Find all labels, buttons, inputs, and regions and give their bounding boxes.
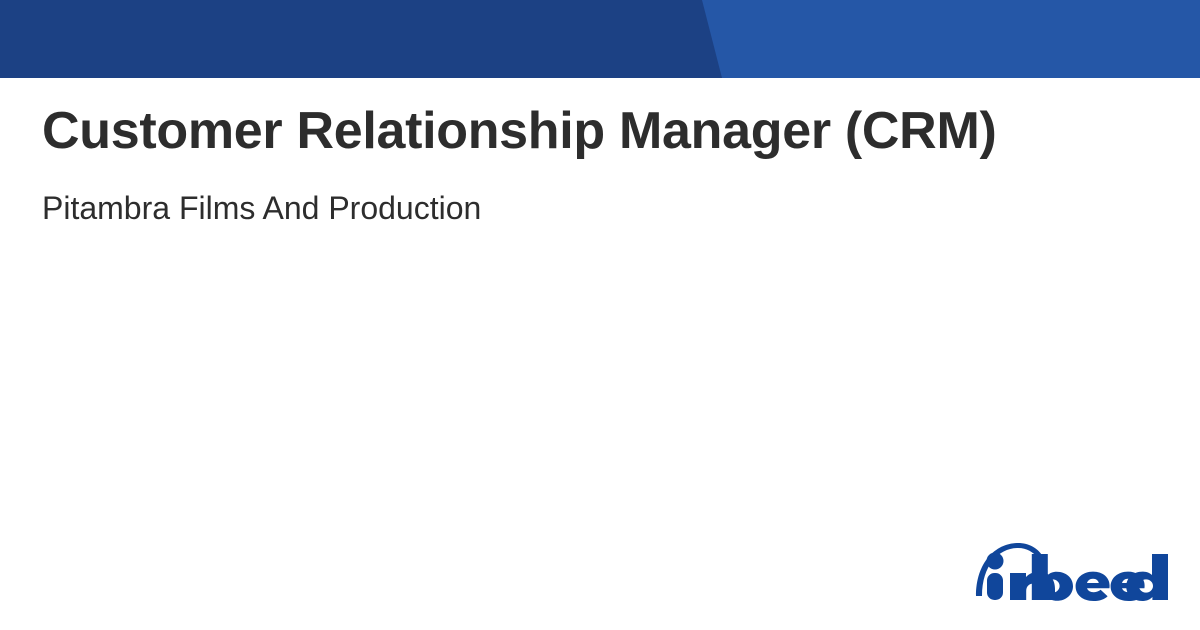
page-title: Customer Relationship Manager (CRM) xyxy=(42,96,1082,166)
indeed-i-stem xyxy=(987,573,1003,600)
indeed-logo[interactable]: indeed xyxy=(972,540,1168,602)
banner-shape xyxy=(0,0,1200,78)
indeed-letter-d2 xyxy=(1126,554,1168,601)
indeed-logo-icon xyxy=(972,540,1168,602)
indeed-i-dot xyxy=(987,553,1004,570)
job-card: Customer Relationship Manager (CRM) Pita… xyxy=(0,0,1200,630)
indeed-letter-d1 xyxy=(1032,554,1073,601)
banner-dark-panel xyxy=(0,0,722,78)
indeed-letter-e1 xyxy=(1076,572,1110,601)
job-header-text: Customer Relationship Manager (CRM) Pita… xyxy=(42,96,1082,228)
header-banner xyxy=(0,0,1200,78)
company-name: Pitambra Films And Production xyxy=(42,166,1082,228)
